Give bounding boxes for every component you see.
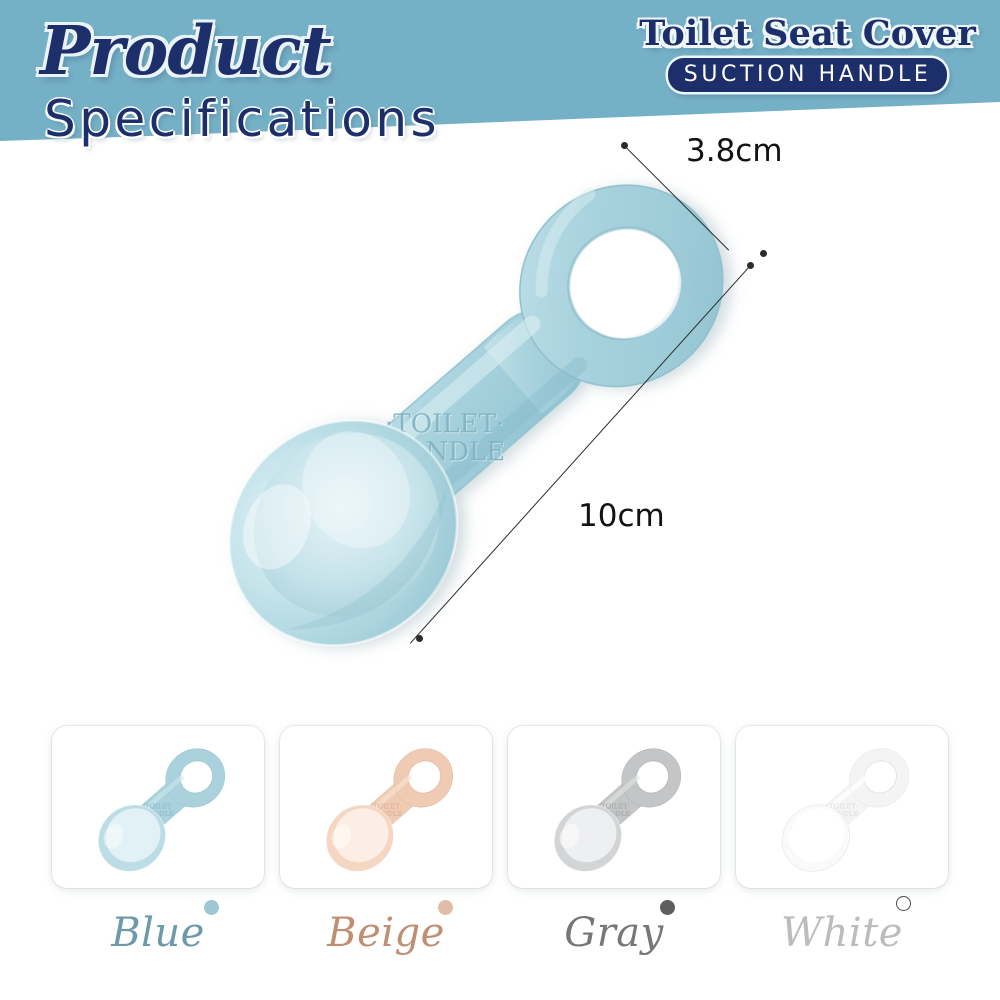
dim-width-dot-end — [760, 250, 767, 257]
dim-width-label: 3.8cm — [686, 133, 783, 169]
variant-card-beige[interactable]: ·TOILET· HANDLE — [280, 726, 492, 888]
page-title-block: Product — [40, 18, 331, 84]
brand-subtitle-pill: SUCTION HANDLE — [668, 58, 948, 92]
color-variant-blue[interactable]: ·TOILET· HANDLE Blue — [52, 726, 264, 1000]
variant-name-blue: Blue — [111, 913, 205, 953]
dim-length-dot-end — [416, 635, 423, 642]
variant-name-beige: Beige — [327, 913, 445, 953]
page-title-specifications: Specifications — [44, 94, 440, 144]
variant-color-dot-gray — [660, 900, 675, 915]
page-title-product: Product — [40, 18, 331, 84]
variant-card-white[interactable]: ·TOILET· HANDLE — [736, 726, 948, 888]
variant-label-row-blue: Blue — [52, 898, 264, 968]
variant-thumbnail-white: ·TOILET· HANDLE — [759, 732, 926, 881]
color-variant-white[interactable]: ·TOILET· HANDLE White — [736, 726, 948, 1000]
product-spec-page: Product Specifications Toilet Seat Cover… — [0, 0, 1000, 1000]
variant-color-dot-blue — [204, 900, 219, 915]
variant-name-white: White — [781, 913, 903, 953]
brand-block: Toilet Seat Cover SUCTION HANDLE — [639, 16, 976, 92]
variant-label-row-beige: Beige — [280, 898, 492, 968]
variant-name-gray: Gray — [564, 913, 664, 953]
variant-card-blue[interactable]: ·TOILET· HANDLE — [52, 726, 264, 888]
variant-label-row-white: White — [736, 898, 948, 968]
variant-thumbnail-gray: ·TOILET· HANDLE — [531, 732, 698, 881]
variant-label-row-gray: Gray — [508, 898, 720, 968]
color-variant-beige[interactable]: ·TOILET· HANDLE Beige — [280, 726, 492, 1000]
variant-card-gray[interactable]: ·TOILET· HANDLE — [508, 726, 720, 888]
variant-color-dot-white — [896, 896, 911, 911]
variant-color-dot-beige — [438, 900, 453, 915]
color-variant-gray[interactable]: ·TOILET· HANDLE Gray — [508, 726, 720, 1000]
dim-length-dot-start — [747, 262, 754, 269]
dim-width-dot-start — [621, 142, 628, 149]
variant-thumbnail-blue: ·TOILET· HANDLE — [75, 732, 242, 881]
dim-length-label: 10cm — [578, 498, 665, 534]
brand-title: Toilet Seat Cover — [639, 16, 976, 53]
color-variants-row: ·TOILET· HANDLE Blue — [0, 726, 1000, 1000]
variant-thumbnail-beige: ·TOILET· HANDLE — [303, 732, 470, 881]
page-subtitle-block: Specifications — [40, 92, 440, 144]
